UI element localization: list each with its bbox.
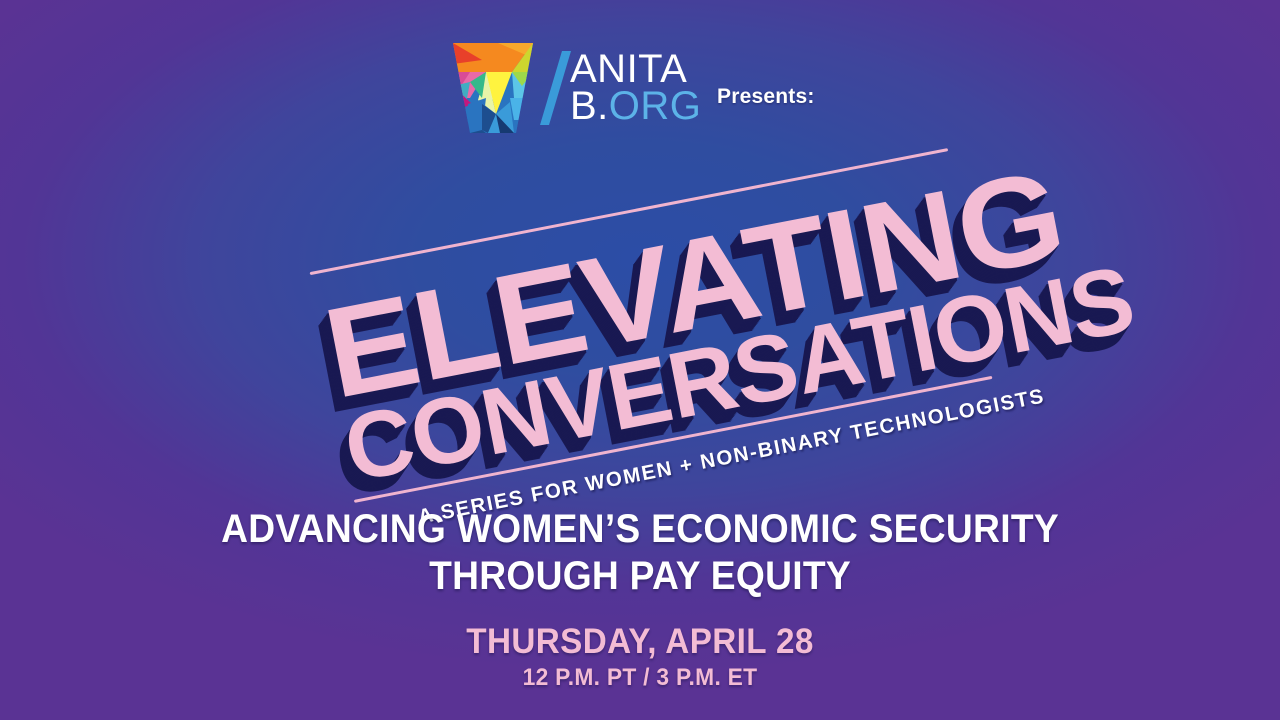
anitab-wordmark: ANITA B.ORG [538, 49, 701, 127]
anitab-prism-logo-icon [452, 42, 534, 134]
event-date: THURSDAY, APRIL 28 [32, 622, 1248, 662]
wordmark-line-borg: B.ORG [570, 88, 701, 125]
wordmark-org: ORG [609, 84, 702, 128]
event-time: 12 P.M. PT / 3 P.M. ET [32, 664, 1248, 692]
wordmark-b-dot: B. [570, 84, 609, 128]
event-details: ADVANCING WOMEN’S ECONOMIC SECURITY THRO… [0, 506, 1280, 692]
brand-lockup: ANITA B.ORG [452, 42, 701, 134]
series-title-lockup: ELEVATING CONVERSATIONS A SERIES FOR WOM… [273, 76, 1027, 553]
wordmark-line-anita: ANITA [570, 51, 701, 88]
promo-slide: ANITA B.ORG Presents: ELEVATING CONVERSA… [0, 0, 1280, 720]
event-headline-line-2: THROUGH PAY EQUITY [45, 553, 1235, 600]
event-headline-line-1: ADVANCING WOMEN’S ECONOMIC SECURITY [45, 506, 1235, 553]
slash-divider-icon [538, 49, 572, 127]
event-datetime: THURSDAY, APRIL 28 12 P.M. PT / 3 P.M. E… [0, 622, 1280, 692]
presents-label: Presents: [717, 85, 815, 109]
